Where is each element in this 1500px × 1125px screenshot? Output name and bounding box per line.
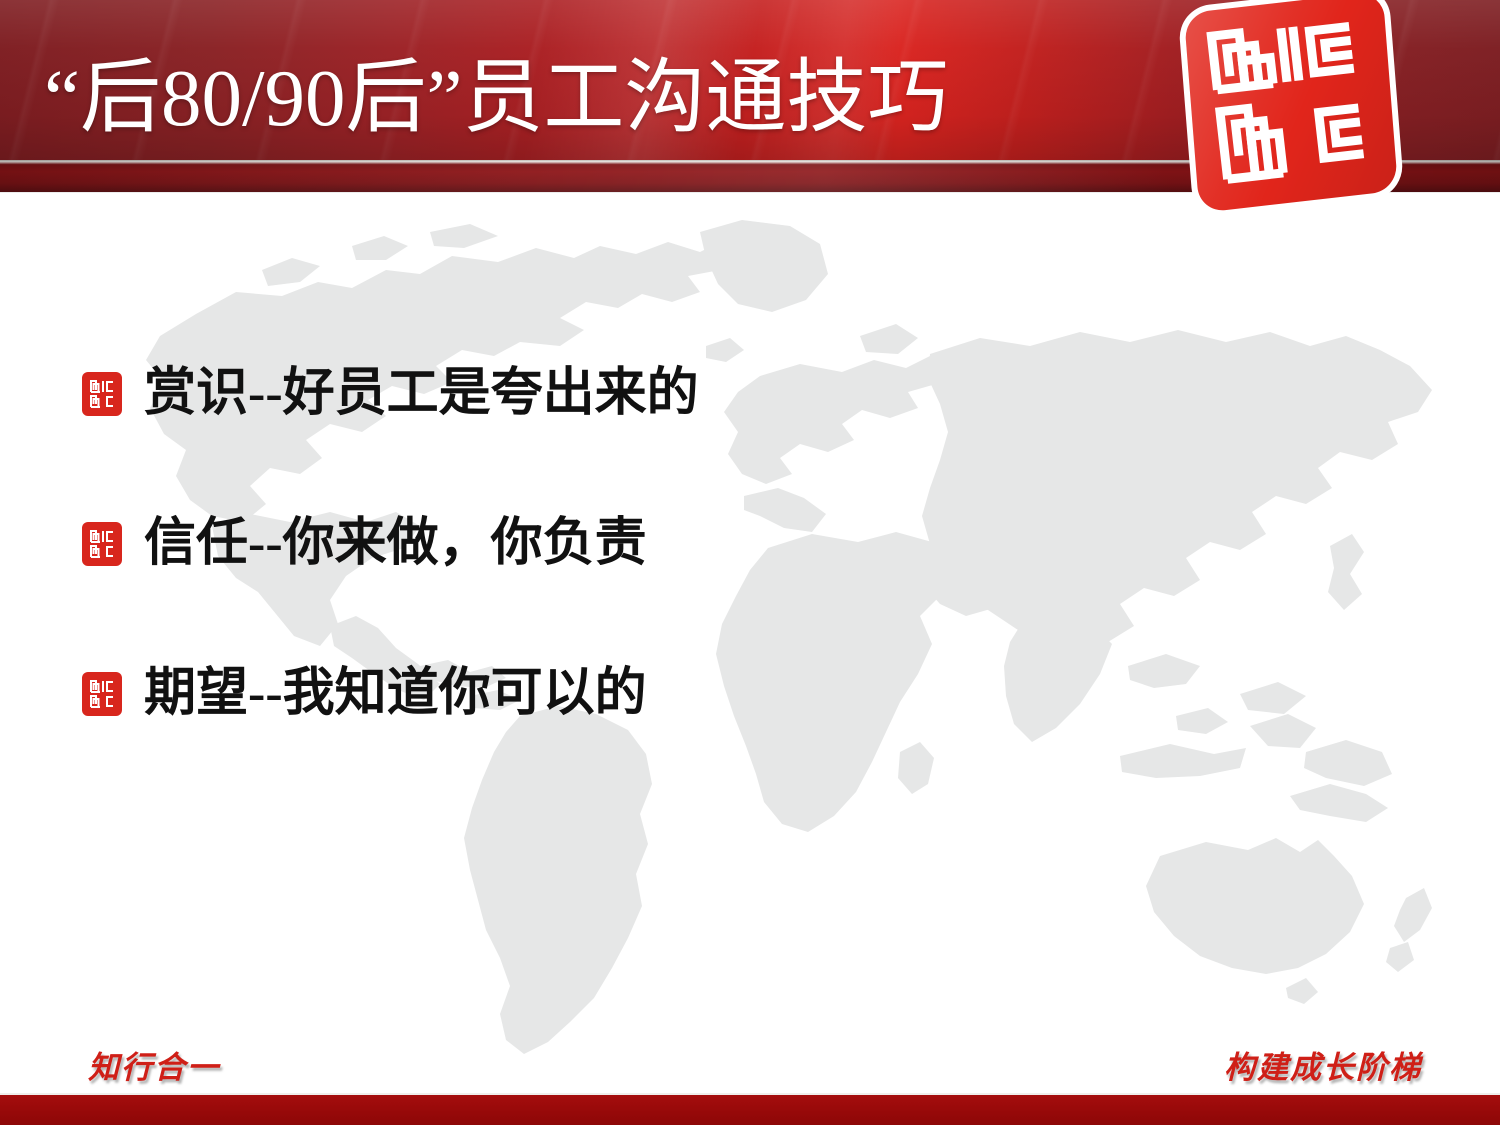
mic-seal-bullet-icon [82,522,122,566]
presentation-slide: “后80/90后”员工沟通技巧 [0,0,1500,1125]
list-item: 赏识--好员工是夸出来的 [82,358,699,430]
list-item: 信任--你来做，你负责 [82,508,647,580]
footer-slogan-right: 构建成长阶梯 [1224,1042,1422,1087]
footer-red-bar [0,1095,1500,1125]
list-item-label: 信任--你来做，你负责 [144,513,647,575]
list-item: 期望--我知道你可以的 [82,658,647,730]
list-item-label: 期望--我知道你可以的 [144,663,647,725]
list-item-label: 赏识--好员工是夸出来的 [144,363,699,425]
footer-slogan-left: 知行合一 [88,1042,220,1087]
mic-seal-bullet-icon [82,672,122,716]
page-title: “后80/90后”员工沟通技巧 [44,42,1224,154]
brand-logo [1173,0,1423,222]
mic-seal-logo-icon [1198,4,1377,196]
mic-seal-bullet-icon [82,372,122,416]
world-map-watermark-icon [0,196,1500,1096]
